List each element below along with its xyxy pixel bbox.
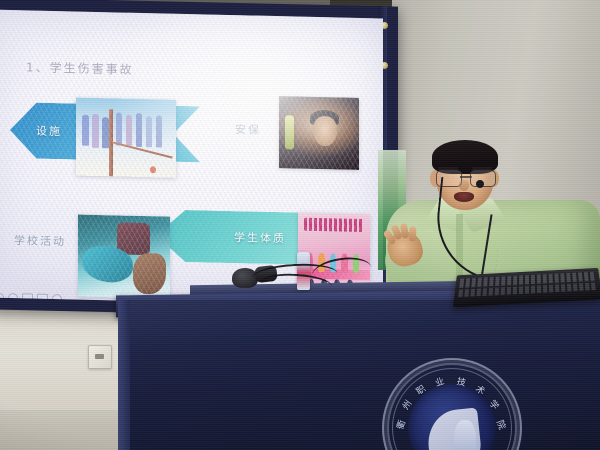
label-activities: 学校活动 — [14, 232, 66, 249]
students-outdoors-photo — [76, 98, 176, 178]
photo-teal-shape — [82, 246, 134, 283]
lecture-photo-scene: 1、学生伤害事故 设施 — [0, 0, 600, 450]
quzhou-college-emblem: 衢 州 职 业 技 术 学 院 — [382, 358, 522, 450]
podium-left-panel — [118, 300, 130, 450]
headset-microphone-capsule — [476, 180, 484, 188]
label-security: 安保 — [235, 121, 261, 138]
label-physique: 学生体质 — [234, 229, 286, 246]
podium — [118, 300, 600, 450]
emblem-swoosh-secondary — [454, 420, 476, 450]
poster-title-band — [304, 217, 364, 231]
label-facilities: 设施 — [36, 123, 62, 140]
photo-face — [313, 116, 337, 147]
teal-scene-photo — [78, 215, 170, 299]
photo-arm-shape — [133, 253, 166, 295]
slide-title: 1、学生伤害事故 — [26, 58, 134, 77]
wall-socket — [88, 345, 112, 369]
photo-bottle — [285, 115, 294, 150]
dark-portrait-photo — [279, 96, 359, 170]
